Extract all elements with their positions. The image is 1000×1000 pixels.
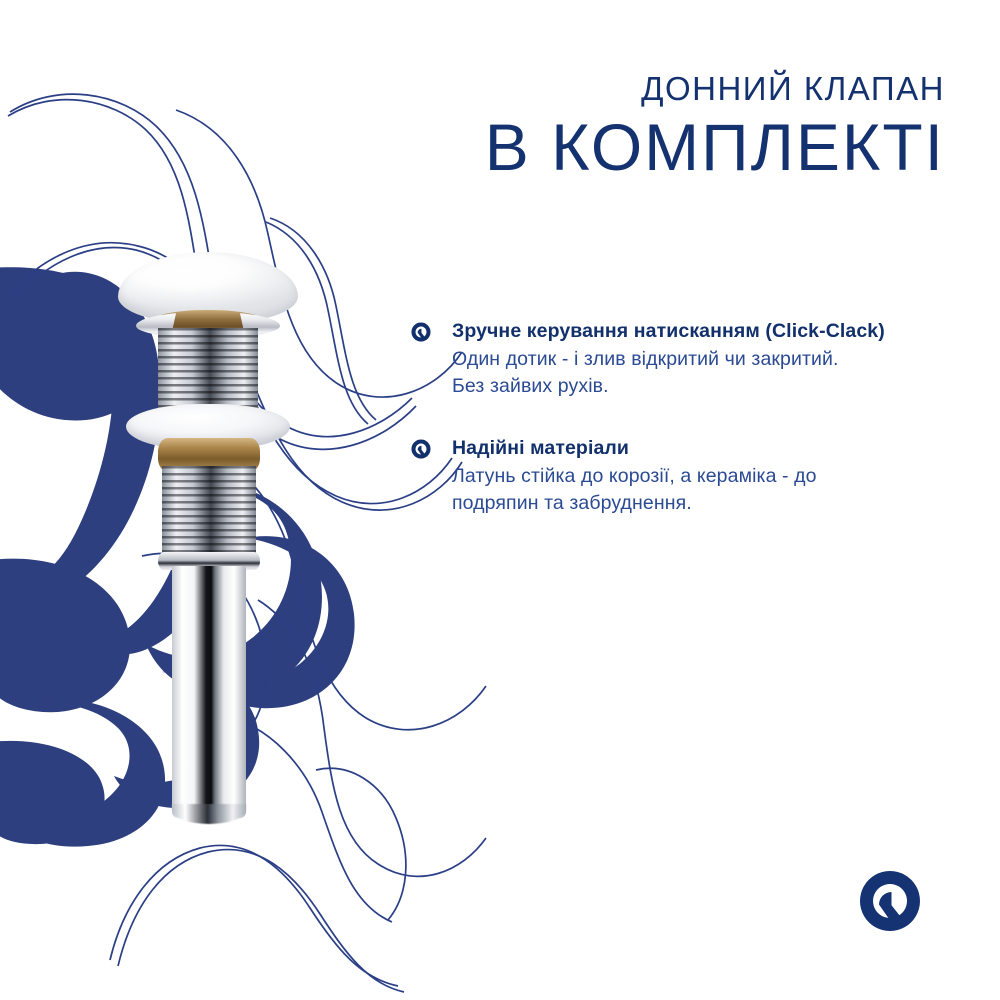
feature-item: Надійні матеріали Латунь стійка до короз… [410, 435, 955, 518]
ribbon-outline-11 [316, 768, 406, 920]
q-logo-bullet-icon [410, 321, 432, 343]
feature-title: Зручне керування натисканням (Click-Clac… [452, 318, 955, 346]
feature-item: Зручне керування натисканням (Click-Clac… [410, 318, 955, 401]
ribbon-filled-5 [0, 559, 130, 713]
headline-block: ДОННИЙ КЛАПАН В КОМПЛЕКТІ [325, 72, 945, 185]
ribbon-outline-9 [118, 850, 404, 992]
product-part-chrome-tube [172, 566, 246, 818]
feature-desc-line: Латунь стійка до корозії, а кераміка - д… [452, 463, 955, 491]
feature-body: Зручне керування натисканням (Click-Clac… [452, 318, 955, 401]
ribbon-outline-8 [110, 845, 398, 986]
feature-desc-line: Один дотик - і злив відкритий чи закрити… [452, 346, 955, 374]
product-poster: ДОННИЙ КЛАПАН В КОМПЛЕКТІ Зручне керуван… [0, 0, 1000, 1000]
q-logo-bullet-icon [410, 438, 432, 460]
product-part-tube-end [172, 804, 246, 824]
feature-title: Надійні матеріали [452, 435, 955, 463]
headline-line-1: ДОННИЙ КЛАПАН [325, 72, 945, 105]
product-part-chrome-thread-lower [162, 466, 256, 562]
feature-body: Надійні матеріали Латунь стійка до короз… [452, 435, 955, 518]
product-image-drain-valve [118, 252, 298, 827]
feature-desc-line: подряпин та забруднення. [452, 490, 955, 518]
q-brand-logo-icon [858, 869, 922, 933]
headline-line-2: В КОМПЛЕКТІ [325, 111, 945, 185]
feature-desc-line: Без зайвих рухів. [452, 373, 955, 401]
feature-list: Зручне керування натисканням (Click-Clac… [410, 318, 955, 552]
ribbon-filled-7 [0, 741, 105, 844]
